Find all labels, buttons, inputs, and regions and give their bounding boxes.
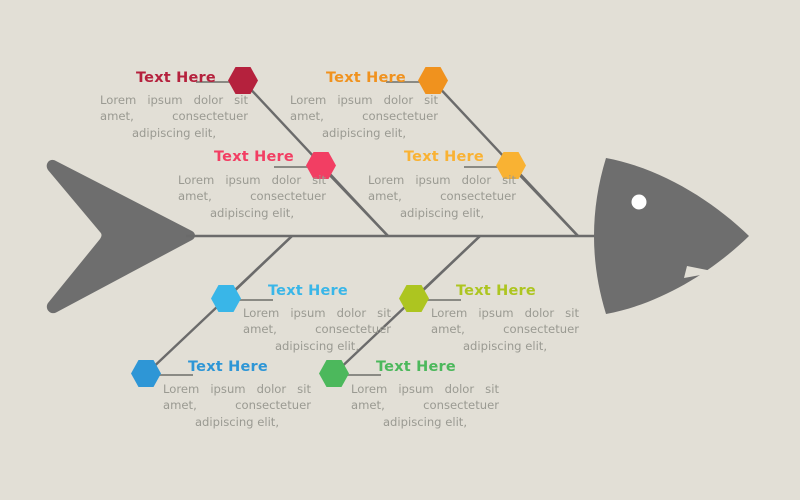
branch-description: Lorem ipsum dolor sit amet, consectetuer… [290, 92, 438, 141]
branch-description: Lorem ipsum dolor sit amet, consectetuer… [178, 172, 326, 221]
fishbone-diagram-canvas: Text HereLorem ipsum dolor sit amet, con… [0, 0, 800, 500]
branch-title: Text Here [326, 70, 406, 86]
branch-title: Text Here [188, 359, 268, 375]
fish-head-shape [594, 158, 749, 314]
branch-connector-stub [274, 166, 308, 168]
fish-tail-shape [47, 160, 195, 313]
branch-description: Lorem ipsum dolor sit amet, consectetuer… [368, 172, 516, 221]
branch-description: Lorem ipsum dolor sit amet, consectetuer… [243, 305, 391, 354]
branch-title: Text Here [376, 359, 456, 375]
branch-line-upper-right-inner [511, 166, 578, 236]
branch-title: Text Here [136, 70, 216, 86]
branch-title: Text Here [456, 283, 536, 299]
branch-description: Lorem ipsum dolor sit amet, consectetuer… [351, 381, 499, 430]
branch-description: Lorem ipsum dolor sit amet, consectetuer… [100, 92, 248, 141]
branch-title: Text Here [268, 283, 348, 299]
branch-description: Lorem ipsum dolor sit amet, consectetuer… [163, 381, 311, 430]
fish-eye-icon [632, 195, 647, 210]
branch-title: Text Here [404, 149, 484, 165]
branch-connector-stub [464, 166, 498, 168]
branch-connector-stub [427, 299, 461, 301]
branch-title: Text Here [214, 149, 294, 165]
branch-description: Lorem ipsum dolor sit amet, consectetuer… [431, 305, 579, 354]
branch-connector-stub [239, 299, 273, 301]
